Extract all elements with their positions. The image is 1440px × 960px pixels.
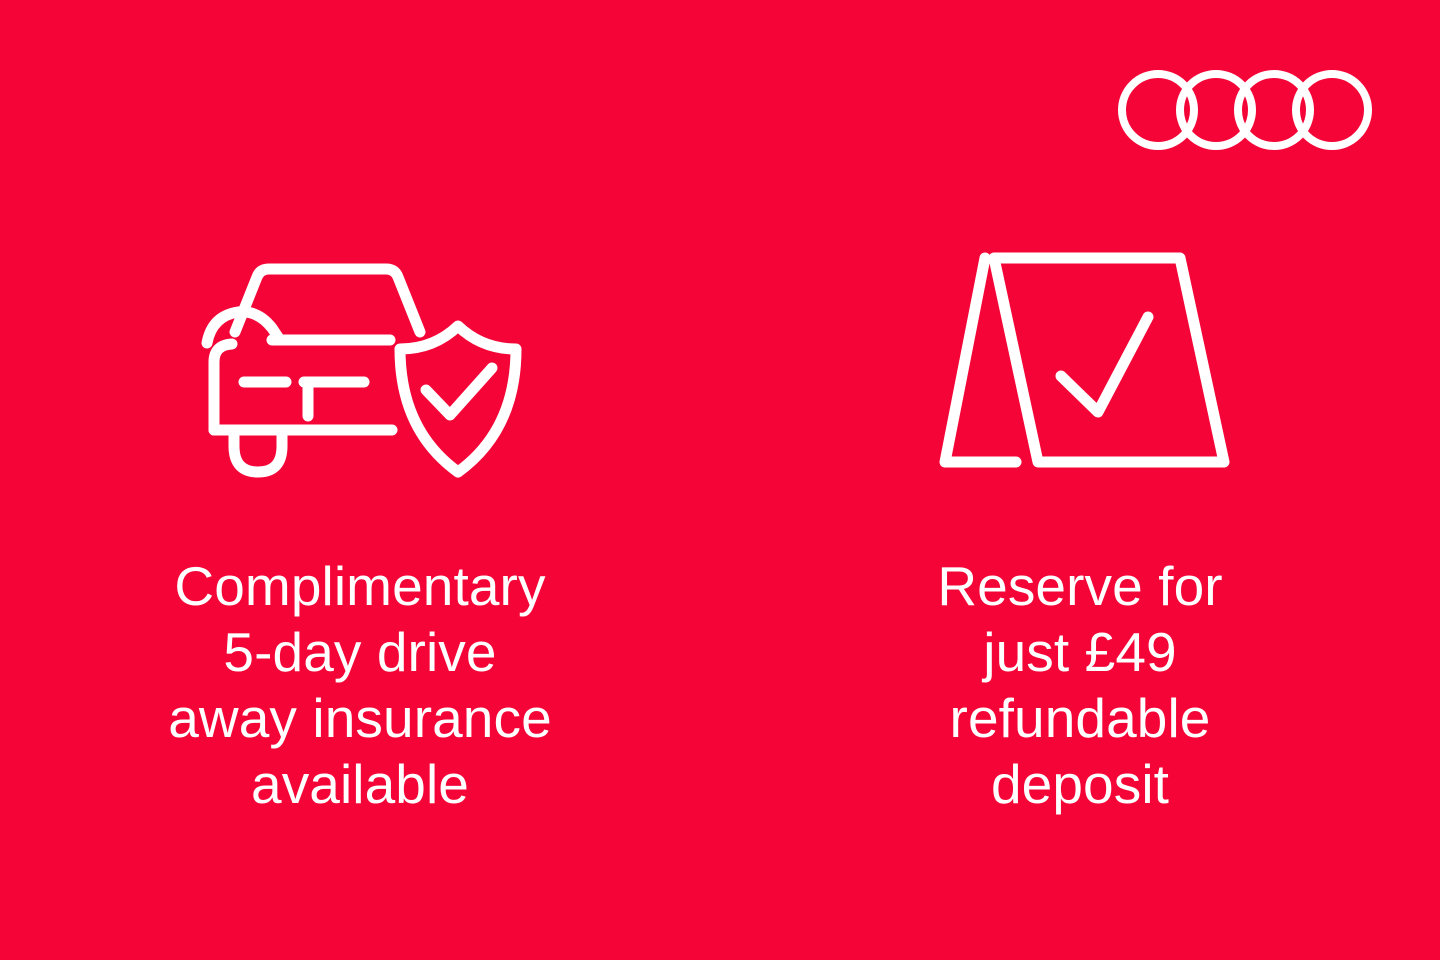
feature-deposit-caption: Reserve for just £49 refundable deposit bbox=[860, 553, 1300, 817]
feature-insurance: Complimentary 5-day drive away insurance… bbox=[0, 0, 720, 817]
feature-deposit: Reserve for just £49 refundable deposit bbox=[720, 0, 1440, 817]
car-shield-icon bbox=[200, 240, 530, 490]
folded-card-check-icon bbox=[937, 240, 1237, 490]
promo-banner: Complimentary 5-day drive away insurance… bbox=[0, 0, 1440, 960]
feature-list: Complimentary 5-day drive away insurance… bbox=[0, 0, 1440, 960]
feature-insurance-caption: Complimentary 5-day drive away insurance… bbox=[80, 553, 640, 817]
